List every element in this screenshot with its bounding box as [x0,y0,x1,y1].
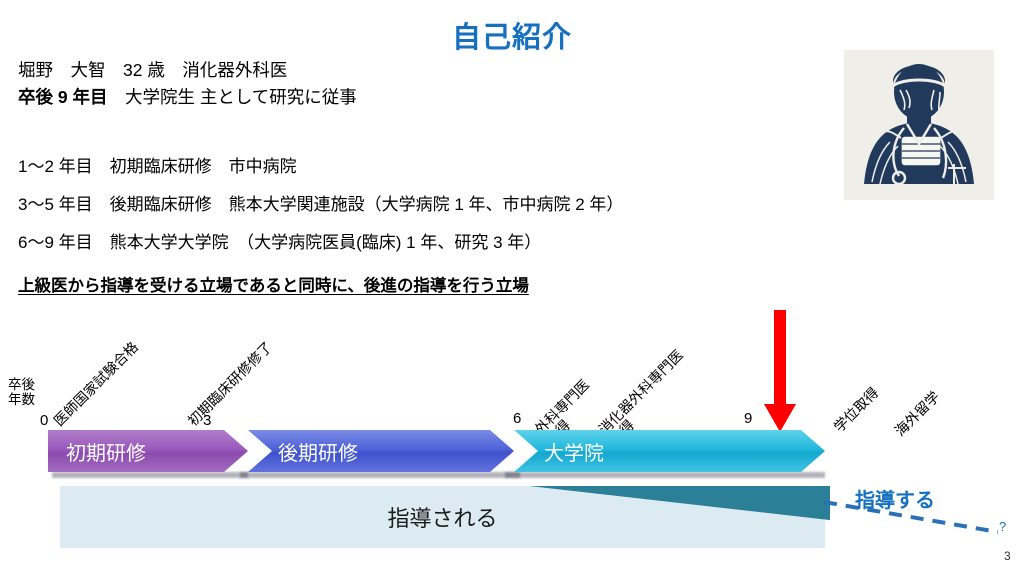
avatar [844,50,994,200]
future-question-mark: ? [999,519,1006,534]
current-position-arrow-icon [762,310,798,438]
timeline-segment-late-training-label: 後期研修 [278,437,358,466]
tick-label-6: 6 [513,410,521,427]
timeline-segment-graduate-school-label: 大学院 [544,437,604,466]
profile-block: 堀野 大智 32 歳 消化器外科医 卒後 9 年目 大学院生 主として研究に従事 [18,62,818,115]
axis-caption-line1: 卒後 [8,378,35,393]
career-item-2: 3～5 年目 後期臨床研修 熊本大学関連施設（大学病院 1 年、市中病院 2 年… [18,190,878,215]
tick-label-9: 9 [744,410,752,427]
timeline-segment-initial-training[interactable]: 初期研修 [48,430,248,472]
segment-shadow-3 [505,472,825,478]
axis-caption-line2: 年数 [8,393,35,408]
page-number: 3 [1004,549,1011,563]
profile-line-status: 卒後 9 年目 大学院生 主として研究に従事 [18,89,818,107]
event-label-initial-training-complete: 初期臨床研修修了 [185,339,275,429]
profile-status-rest: 大学院生 主として研究に従事 [107,87,356,107]
career-item-3: 6～9 年目 熊本大学大学院 （大学病院医員(臨床) 1 年、研究 3 年） [18,228,878,253]
segment-shadow-1 [52,472,248,478]
surgeon-illustration-icon [844,50,994,200]
teach-wedge [500,480,830,525]
profile-line-name: 堀野 大智 32 歳 消化器外科医 [18,62,818,80]
segment-shadow-2 [240,472,520,478]
profile-years-bold: 卒後 9 年目 [18,87,107,107]
future-dashed-line [820,498,1020,543]
tick-label-0: 0 [40,412,48,429]
event-label-degree-obtained: 学位取得 [831,385,881,435]
key-statement: 上級医から指導を受ける立場であると同時に、後進の指導を行う立場 [18,272,529,296]
slide-canvas: 自己紹介 堀野 大智 32 歳 消化器外科医 卒後 9 年目 大学院生 主として… [0,0,1024,576]
timeline-band: 初期研修 後期研修 大学院 [0,430,1024,478]
event-label-national-exam: 医師国家試験合格 [51,339,141,429]
event-label-gi-surgery-specialist-line1: 消化器外科専門医 [596,347,686,437]
timeline-segment-initial-training-label: 初期研修 [66,437,146,466]
timeline-segment-late-training[interactable]: 後期研修 [224,430,514,472]
timeline-segment-graduate-school[interactable]: 大学院 [490,430,825,472]
career-list: 1～2 年目 初期臨床研修 市中病院 3～5 年目 後期臨床研修 熊本大学関連施… [18,152,878,266]
career-item-1: 1～2 年目 初期臨床研修 市中病院 [18,152,878,177]
axis-caption: 卒後 年数 [8,378,35,407]
